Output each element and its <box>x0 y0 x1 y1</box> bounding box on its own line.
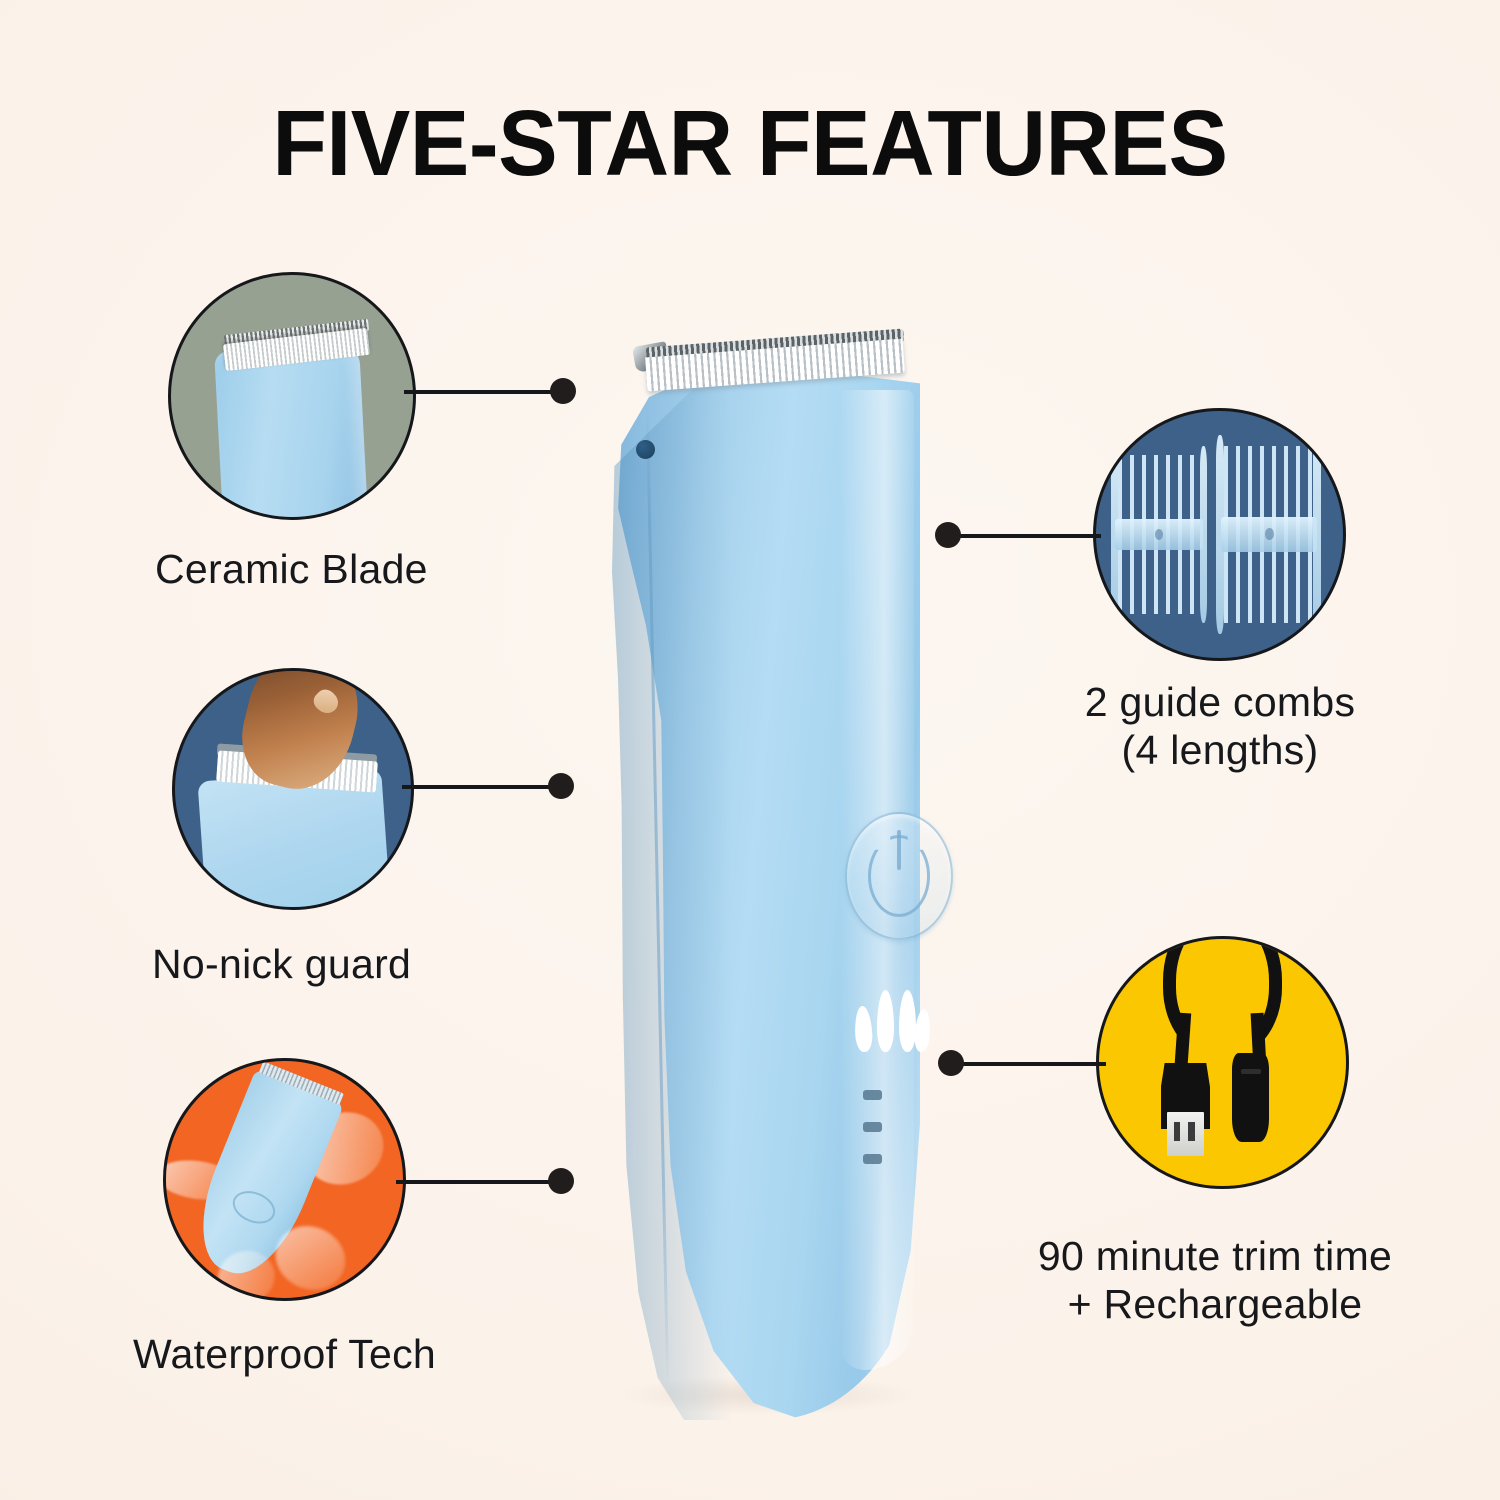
guide-combs-image <box>1093 408 1346 661</box>
power-icon-stem <box>897 830 901 870</box>
ceramic-blade-image <box>168 272 416 520</box>
feature-label-trim-time: 90 minute trim time + Rechargeable <box>985 1232 1445 1329</box>
usb-a-contact-graphic <box>1167 1112 1204 1156</box>
battery-dot <box>863 1090 882 1100</box>
brand-logo <box>855 990 931 1052</box>
connector-ceramic-blade <box>404 378 576 404</box>
guide-comb-graphic <box>1118 455 1200 613</box>
connector-waterproof-tech <box>396 1168 574 1194</box>
connector-trim-time <box>938 1050 1106 1076</box>
feature-label-ceramic-blade: Ceramic Blade <box>155 545 575 593</box>
connector-guide-combs <box>935 522 1101 548</box>
fingernail-graphic <box>310 685 342 717</box>
page-title: FIVE-STAR FEATURES <box>30 90 1470 197</box>
feature-label-guide-combs: 2 guide combs (4 lengths) <box>1000 678 1440 775</box>
battery-dot <box>863 1154 882 1164</box>
no-nick-guard-image <box>172 668 414 910</box>
infographic-canvas: FIVE-STAR FEATURES Ceramic Blade No-nick… <box>0 0 1500 1500</box>
connector-dot <box>550 378 576 404</box>
oil-port-hole <box>636 440 655 459</box>
battery-dot <box>863 1122 882 1132</box>
guide-comb-graphic <box>1224 446 1313 624</box>
connector-dot <box>548 1168 574 1194</box>
battery-indicator <box>863 1090 882 1186</box>
usb-cable-image <box>1096 936 1349 1189</box>
power-button[interactable] <box>845 812 953 940</box>
feature-label-waterproof-tech: Waterproof Tech <box>133 1330 583 1378</box>
trimmer-head-graphic <box>215 344 370 520</box>
waterproof-tech-image <box>163 1058 406 1301</box>
feature-label-no-nick-guard: No-nick guard <box>152 940 572 988</box>
product-trimmer <box>590 300 950 1430</box>
device-plug-graphic <box>1232 1053 1269 1142</box>
connector-no-nick-guard <box>402 773 574 799</box>
connector-dot <box>548 773 574 799</box>
